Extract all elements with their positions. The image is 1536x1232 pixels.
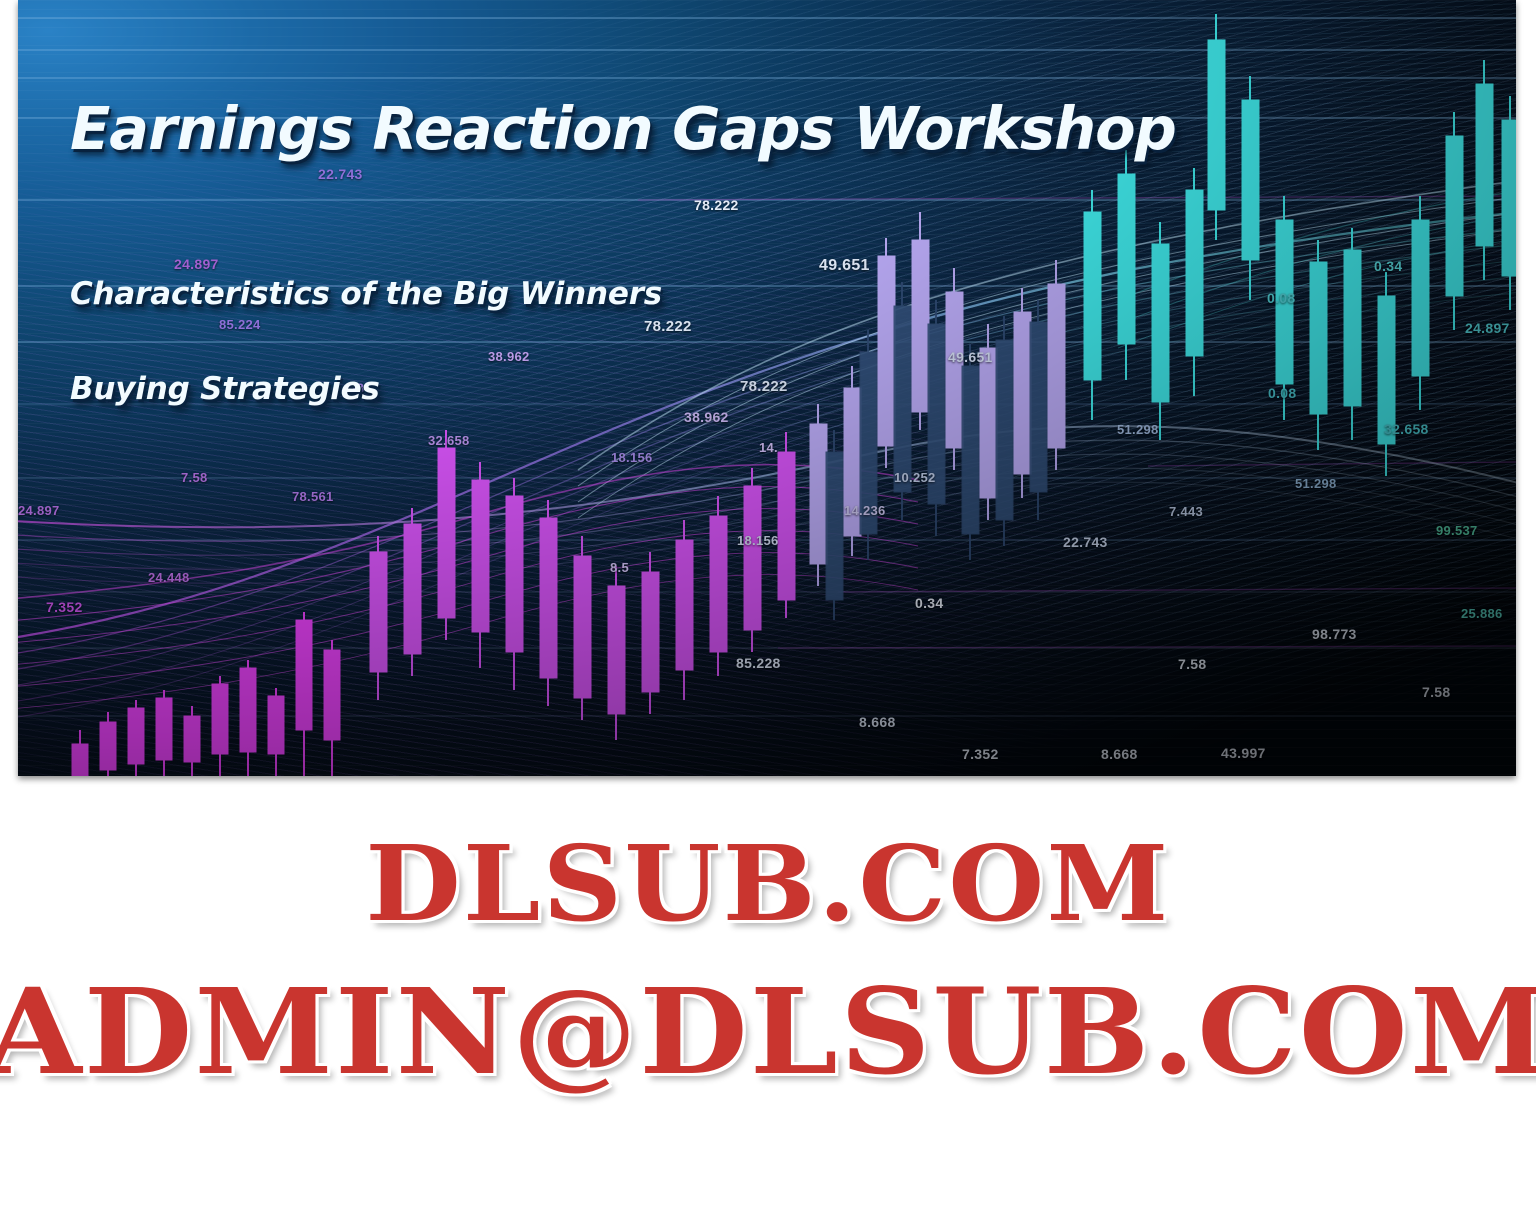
watermark-site: DLSUB.COM — [0, 822, 1536, 945]
subtitle-buying-strategies: Buying Strategies — [70, 371, 380, 407]
watermark-email: ADMIN@DLSUB.COM — [0, 962, 1536, 1101]
page-title: Earnings Reaction Gaps Workshop — [70, 94, 1176, 163]
banner-image: 22.74378.22224.89749.6510.340.0885.22478… — [18, 0, 1516, 776]
candles-magenta — [72, 612, 340, 776]
subtitle-characteristics: Characteristics of the Big Winners — [70, 276, 662, 312]
candles-magenta-mid — [370, 430, 795, 740]
watermark-site-text: DLSUB.COM — [365, 822, 1170, 945]
watermark-email-text: ADMIN@DLSUB.COM — [0, 962, 1536, 1101]
candles-cyan — [1084, 14, 1516, 476]
